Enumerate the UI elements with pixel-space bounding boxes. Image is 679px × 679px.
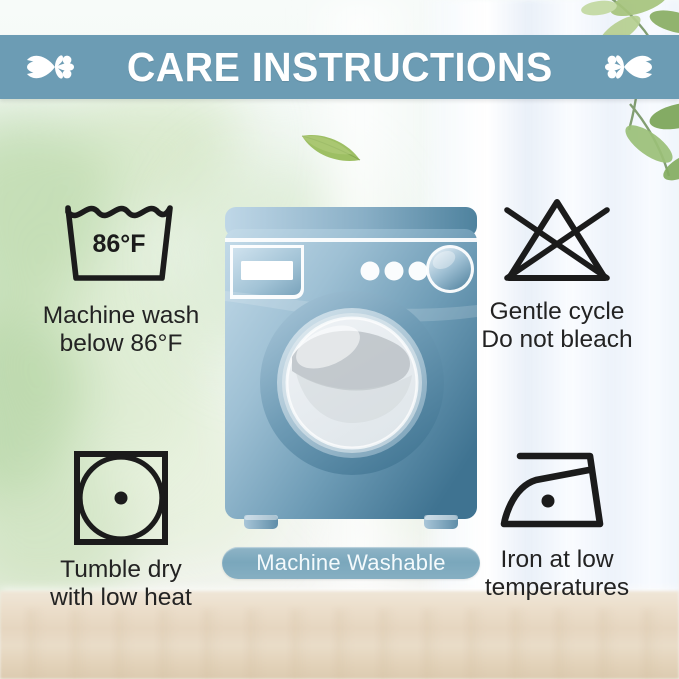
- machine-washable-badge: Machine Washable: [222, 547, 480, 579]
- fleur-de-lis-right-icon: [593, 44, 657, 90]
- washing-machine-illustration: [222, 205, 480, 543]
- wash-temperature-value: 86°F: [92, 230, 145, 258]
- detergent-drawer: [230, 245, 304, 299]
- page-title: CARE INSTRUCTIONS: [127, 47, 553, 88]
- machine-washable-badge-label: Machine Washable: [256, 552, 445, 574]
- care-item-iron-caption: Iron at low temperatures: [452, 546, 662, 602]
- care-item-do-not-bleach-caption: Gentle cycle Do not bleach: [452, 298, 662, 354]
- control-knob: [426, 245, 474, 293]
- care-item-do-not-bleach: Gentle cycle Do not bleach: [452, 194, 662, 354]
- do-not-bleach-triangle-icon: [493, 194, 621, 290]
- washer-door: [260, 291, 444, 475]
- care-item-machine-wash-caption: Machine wash below 86°F: [16, 302, 226, 358]
- care-item-tumble-dry-caption: Tumble dry with low heat: [16, 556, 226, 612]
- floating-leaf-icon: [298, 124, 364, 166]
- care-instructions-infographic: CARE INSTRUCTIONS 86°F Machine wash belo…: [0, 0, 679, 679]
- tumble-dry-low-heat-icon: [69, 448, 173, 548]
- background-table-grain: [0, 609, 679, 679]
- care-item-tumble-dry: Tumble dry with low heat: [16, 448, 226, 612]
- care-item-iron: Iron at low temperatures: [452, 448, 662, 602]
- wash-tub-icon: 86°F: [58, 198, 184, 294]
- care-item-machine-wash: 86°F Machine wash below 86°F: [16, 198, 226, 358]
- fleur-de-lis-left-icon: [22, 44, 86, 90]
- indicator-lights: [361, 262, 428, 281]
- header-banner: CARE INSTRUCTIONS: [0, 35, 679, 99]
- iron-low-temperature-icon: [496, 448, 618, 538]
